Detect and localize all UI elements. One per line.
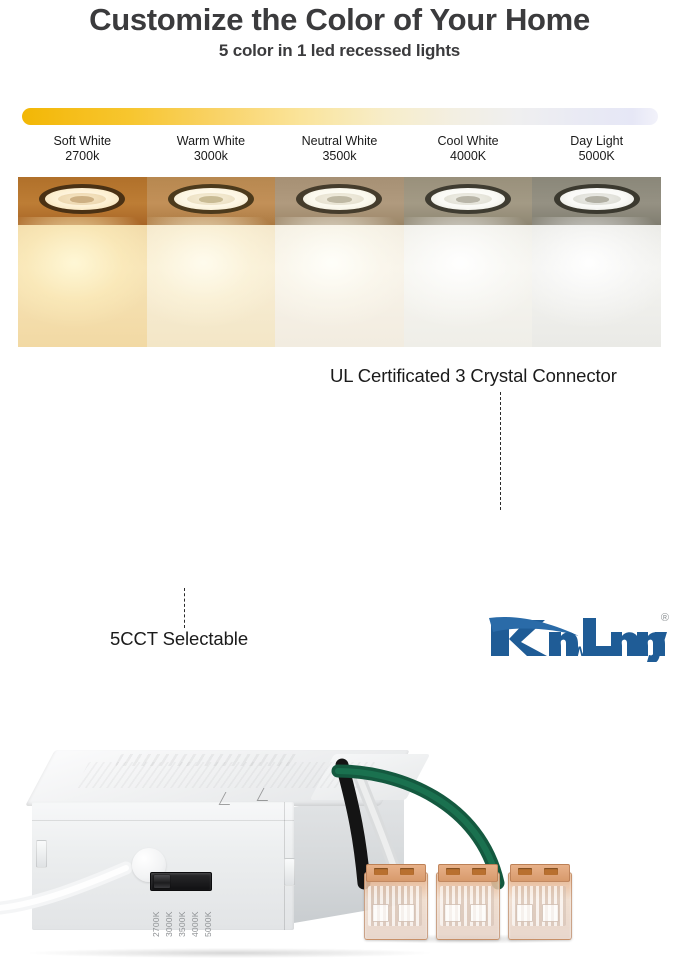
recessed-light-fixture [296, 184, 382, 214]
crystal-connector [436, 864, 498, 938]
cct-switch-tick-3500k: 3500K [176, 891, 188, 937]
cct-kelvin: 2700k [18, 149, 147, 164]
wall-surface [404, 225, 533, 347]
trim-core [70, 196, 94, 203]
connector-port [472, 868, 486, 875]
panel-seam [32, 820, 294, 821]
connector-port [374, 868, 388, 875]
connector-window [470, 904, 487, 922]
wall-surface [275, 225, 404, 347]
cct-switch-tick-4000k: 4000K [189, 891, 201, 937]
brand-subname: Ware [573, 643, 609, 659]
callout-connector-label: UL Certificated 3 Crystal Connector [330, 365, 617, 387]
connector-window [444, 904, 461, 922]
cct-label-soft-white: Soft White 2700k [18, 134, 147, 168]
callout-switch-label: 5CCT Selectable [110, 628, 248, 650]
cct-switch-scale: 2700K 3000K 3500K 4000K 5000K [150, 891, 216, 939]
page-title: Customize the Color of Your Home [0, 2, 679, 38]
cct-switch-tick-2700k: 2700K [150, 891, 162, 937]
cct-name: Soft White [18, 134, 147, 149]
logo-letter-n2 [611, 632, 639, 656]
connector-port [518, 868, 532, 875]
cct-switch-tick-5000k: 5000K [202, 891, 214, 937]
cct-label-neutral-white: Neutral White 3500k [275, 134, 404, 168]
cct-kelvin: 5000K [532, 149, 661, 164]
callout-connector-leader-line [500, 392, 501, 510]
cct-label-warm-white: Warm White 3000k [147, 134, 276, 168]
connector-port [400, 868, 414, 875]
cct-preview-warm-white [147, 177, 276, 347]
cct-switch-knob[interactable] [154, 875, 170, 888]
recessed-light-fixture [39, 184, 125, 214]
cct-preview-day-light [532, 177, 661, 347]
page-subtitle: 5 color in 1 led recessed lights [0, 41, 679, 61]
crystal-connector [508, 864, 570, 938]
cct-kelvin: 3000k [147, 149, 276, 164]
trim-core [327, 196, 351, 203]
box-latch-tab-right [284, 858, 295, 886]
connector-port [446, 868, 460, 875]
wall-surface [147, 225, 276, 347]
cct-selector-switch[interactable] [150, 872, 212, 891]
wall-surface [532, 225, 661, 347]
cct-kelvin: 4000K [404, 149, 533, 164]
cct-name: Neutral White [275, 134, 404, 149]
cct-name: Warm White [147, 134, 276, 149]
connector-port [544, 868, 558, 875]
connector-window [516, 904, 533, 922]
wall-surface [18, 225, 147, 347]
cct-label-cool-white: Cool White 4000K [404, 134, 533, 168]
recessed-light-fixture [425, 184, 511, 214]
lid-embossing-secondary [115, 754, 301, 766]
trim-core [585, 196, 609, 203]
cct-name: Cool White [404, 134, 533, 149]
cct-gradient-bar [22, 108, 658, 125]
connector-window [542, 904, 559, 922]
cct-preview-neutral-white [275, 177, 404, 347]
brand-logo: Ware ® [487, 612, 673, 662]
supply-cable [0, 856, 148, 914]
crystal-connector [364, 864, 426, 938]
trim-core [199, 196, 223, 203]
cct-label-day-light: Day Light 5000K [532, 134, 661, 168]
product-infographic: Customize the Color of Your Home 5 color… [0, 0, 679, 664]
cct-preview-strip [18, 177, 661, 347]
recessed-light-fixture [554, 184, 640, 214]
cct-label-row: Soft White 2700k Warm White 3000k Neutra… [18, 134, 661, 168]
recessed-light-fixture [168, 184, 254, 214]
cct-kelvin: 3500k [275, 149, 404, 164]
cct-preview-soft-white [18, 177, 147, 347]
connector-window [398, 904, 415, 922]
registered-trademark-icon: ® [661, 612, 669, 624]
cct-preview-cool-white [404, 177, 533, 347]
cct-switch-tick-3000k: 3000K [163, 891, 175, 937]
trim-core [456, 196, 480, 203]
callout-switch-leader-line [184, 588, 185, 628]
cct-name: Day Light [532, 134, 661, 149]
connector-window [372, 904, 389, 922]
crystal-connector-group [364, 864, 574, 940]
